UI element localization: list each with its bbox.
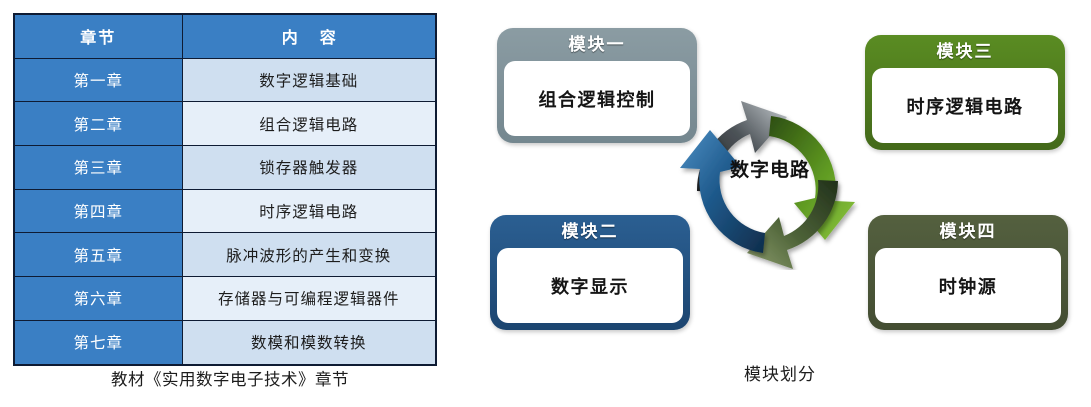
cell-chapter: 第四章	[14, 189, 182, 233]
table-row: 第一章 数字逻辑基础	[14, 58, 436, 102]
cell-chapter: 第二章	[14, 102, 182, 146]
cell-chapter: 第一章	[14, 58, 182, 102]
module-2-title: 模块二	[490, 215, 690, 249]
table-row: 第三章 锁存器触发器	[14, 146, 436, 190]
chapter-table: 章节 内 容 第一章 数字逻辑基础 第二章 组合逻辑电路 第三章 锁存器触发器 …	[13, 13, 437, 366]
cell-content: 数字逻辑基础	[182, 58, 436, 102]
arrow-left-blue-shape	[680, 130, 765, 253]
table-row: 第二章 组合逻辑电路	[14, 102, 436, 146]
chapter-table-caption: 教材《实用数字电子技术》章节	[0, 366, 460, 390]
module-4-title: 模块四	[868, 215, 1068, 249]
module-box-3: 模块三 时序逻辑电路	[865, 35, 1065, 150]
table-row: 第四章 时序逻辑电路	[14, 189, 436, 233]
cell-content: 锁存器触发器	[182, 146, 436, 190]
cell-content: 脉冲波形的产生和变换	[182, 233, 436, 277]
table-row: 第七章 数模和模数转换	[14, 320, 436, 364]
column-header-content: 内 容	[182, 14, 436, 58]
module-box-1: 模块一 组合逻辑控制	[497, 28, 697, 143]
table-row: 第五章 脉冲波形的产生和变换	[14, 233, 436, 277]
table-row: 第六章 存储器与可编程逻辑器件	[14, 277, 436, 321]
table-header-row: 章节 内 容	[14, 14, 436, 58]
cell-chapter: 第六章	[14, 277, 182, 321]
cell-content: 时序逻辑电路	[182, 189, 436, 233]
cycle-center-label: 数字电路	[675, 155, 865, 182]
cell-content: 数模和模数转换	[182, 320, 436, 364]
cell-content: 组合逻辑电路	[182, 102, 436, 146]
cell-content: 存储器与可编程逻辑器件	[182, 277, 436, 321]
cycle-arrows-graphic	[675, 95, 865, 270]
module-diagram-panel: 模块一 组合逻辑控制 模块三 时序逻辑电路 模块二 数字显示 模块四 时钟源	[460, 0, 1091, 407]
cell-chapter: 第七章	[14, 320, 182, 364]
module-2-body: 数字显示	[497, 248, 683, 323]
module-box-2: 模块二 数字显示	[490, 215, 690, 330]
module-3-title: 模块三	[865, 35, 1065, 69]
chapter-table-panel: 章节 内 容 第一章 数字逻辑基础 第二章 组合逻辑电路 第三章 锁存器触发器 …	[0, 0, 460, 407]
module-box-4: 模块四 时钟源	[868, 215, 1068, 330]
module-4-body: 时钟源	[875, 248, 1061, 323]
module-1-body: 组合逻辑控制	[504, 61, 690, 136]
cell-chapter: 第五章	[14, 233, 182, 277]
module-diagram-caption: 模块划分	[620, 360, 940, 385]
module-3-body: 时序逻辑电路	[872, 68, 1058, 143]
module-1-title: 模块一	[497, 28, 697, 62]
column-header-chapter: 章节	[14, 14, 182, 58]
cell-chapter: 第三章	[14, 146, 182, 190]
